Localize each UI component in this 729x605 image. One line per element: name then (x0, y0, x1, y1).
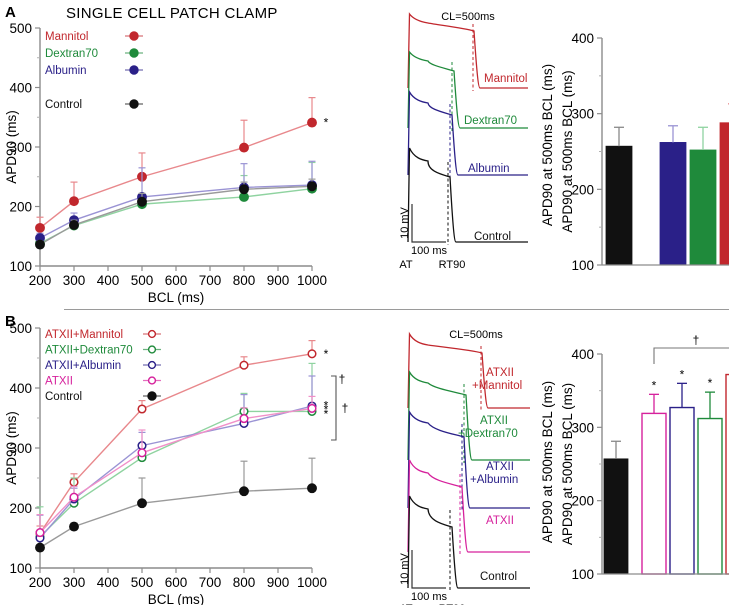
x-tick-label: 300 (63, 273, 86, 288)
y-tick-label: 500 (9, 321, 32, 336)
data-point (308, 350, 316, 358)
y-axis-label: APD90 at 500ms BCL (ms) (540, 64, 555, 226)
voltage-scale-label: 10 mV (399, 552, 411, 584)
significance-marker: † (342, 401, 349, 415)
legend-label: ATXII+Albumin (45, 360, 121, 372)
trace-label: +Mannitol (472, 380, 522, 392)
bar (660, 142, 686, 265)
significance-marker: † (693, 333, 700, 347)
data-point (36, 529, 44, 537)
y-axis-label: APD90 at 500ms BCL (ms) (560, 70, 575, 232)
panel-a-line-chart: 1002003004005002003004005006007008009001… (0, 18, 380, 303)
data-point (138, 449, 146, 457)
legend-marker (149, 362, 156, 369)
trace-label: Dextran70 (464, 115, 517, 127)
significance-marker: * (652, 378, 657, 392)
x-tick-label: 300 (63, 575, 86, 590)
bar (642, 413, 666, 574)
trace-label: +Dextran70 (458, 428, 518, 440)
trace-label: ATXII (486, 367, 514, 379)
trace-label: Control (480, 571, 517, 583)
legend-marker (149, 377, 156, 384)
data-point (308, 118, 317, 127)
bar (606, 146, 632, 265)
legend-label: Control (45, 99, 82, 111)
significance-marker: * (324, 116, 329, 130)
bar (720, 123, 729, 265)
y-axis-label: APD90 (ms) (4, 110, 19, 184)
significance-marker: * (680, 367, 685, 381)
data-point (138, 405, 146, 413)
data-point (138, 197, 147, 206)
x-tick-label: 400 (97, 575, 120, 590)
y-axis-label: APD90 at 500ms BCL (ms) (560, 383, 575, 545)
legend-label: Mannitol (45, 31, 88, 43)
significance-marker: * (324, 347, 329, 361)
data-point (70, 522, 79, 531)
trace-label: ATXII (480, 415, 508, 427)
y-tick-label: 400 (9, 81, 32, 96)
x-tick-label: 900 (267, 273, 290, 288)
x-tick-label: 1000 (297, 273, 327, 288)
significance-marker: † (339, 372, 346, 386)
legend-label: Albumin (45, 65, 87, 77)
legend-marker (149, 346, 156, 353)
significance-marker: * (708, 376, 713, 390)
data-point (36, 543, 45, 552)
x-tick-label: 500 (131, 273, 154, 288)
y-axis-label: APD90 (ms) (4, 411, 19, 485)
y-tick-label: 500 (9, 21, 32, 36)
x-tick-label: 800 (233, 575, 256, 590)
x-tick-label: 700 (199, 575, 222, 590)
legend-label: ATXII (45, 376, 73, 388)
figure-root: A SINGLE CELL PATCH CLAMP 10020030040050… (0, 0, 729, 605)
trace-label: Control (474, 231, 511, 243)
legend-label: Dextran70 (45, 48, 98, 60)
y-tick-label: 100 (571, 258, 594, 273)
x-tick-label: 200 (29, 575, 52, 590)
y-tick-label: 400 (571, 347, 594, 362)
x-tick-label: 600 (165, 575, 188, 590)
x-tick-label: 200 (29, 273, 52, 288)
data-point (36, 224, 45, 233)
data-point (36, 240, 45, 249)
legend-label: ATXII+Dextran70 (45, 345, 133, 357)
x-axis-label: BCL (ms) (148, 290, 205, 305)
trace-label: Mannitol (484, 73, 527, 85)
x-tick-label: 800 (233, 273, 256, 288)
panel-b-bar-chart: 100200300400APD90 at 500ms BCL (ms)****† (556, 312, 729, 602)
y-tick-label: 200 (9, 200, 32, 215)
data-point (308, 484, 317, 493)
bar (670, 408, 694, 574)
x-tick-label: 500 (131, 575, 154, 590)
legend-marker (130, 66, 138, 74)
x-tick-label: 1000 (297, 575, 327, 590)
data-point (240, 185, 249, 194)
data-point (70, 221, 79, 230)
cycle-length-label: CL=500ms (441, 11, 495, 23)
bar (604, 459, 628, 574)
legend-marker (130, 100, 138, 108)
trace-label: +Albumin (470, 474, 518, 486)
time-scale-label: 100 ms (411, 591, 448, 603)
legend-marker (130, 32, 138, 40)
bar (690, 150, 716, 265)
data-point (308, 405, 316, 413)
trace-label: Albumin (468, 163, 510, 175)
y-tick-label: 400 (9, 381, 32, 396)
data-point (240, 415, 248, 423)
significance-marker: * (324, 407, 329, 421)
trace-label: ATXII (486, 515, 514, 527)
panel-b-trace-plot: CL=500msATXII+MannitolATXII+Dextran70ATX… (380, 312, 560, 605)
x-tick-label: 700 (199, 273, 222, 288)
y-tick-label: 100 (9, 561, 32, 576)
data-point (70, 197, 79, 206)
legend-marker (130, 83, 138, 91)
panel-divider (64, 309, 729, 310)
data-point (138, 499, 147, 508)
x-tick-label: 400 (97, 273, 120, 288)
data-point (240, 361, 248, 369)
voltage-scale-label: 10 mV (399, 206, 411, 238)
x-axis-label: BCL (ms) (148, 592, 205, 605)
data-point (308, 182, 317, 191)
legend-marker (148, 392, 156, 400)
bar (698, 419, 722, 574)
y-tick-label: 200 (9, 501, 32, 516)
panel-a-bar-chart: 100200300400APD90 at 500ms BCL (ms)* (556, 10, 729, 290)
cycle-length-label: CL=500ms (449, 329, 503, 341)
y-tick-label: 100 (571, 567, 594, 582)
data-point (240, 487, 249, 496)
data-point (240, 143, 249, 152)
y-axis-label: APD90 at 500ms BCL (ms) (540, 381, 555, 543)
legend-label: Control (45, 391, 82, 403)
time-scale-label: 100 ms (411, 245, 448, 257)
panel-b-line-chart: 1002003004005002003004005006007008009001… (0, 318, 380, 605)
legend-label: ATXII+Mannitol (45, 329, 123, 341)
panel-a-trace-plot: CL=500msMannitolDextran70AlbuminControl1… (380, 0, 560, 290)
x-tick-label: 900 (267, 575, 290, 590)
trace-label: ATXII (486, 461, 514, 473)
y-tick-label: 400 (571, 31, 594, 46)
rt90-label: RT90 (439, 259, 466, 271)
legend-marker (149, 331, 156, 338)
legend-marker (130, 49, 138, 57)
data-point (70, 493, 78, 501)
y-tick-label: 100 (9, 259, 32, 274)
at-label: AT (399, 259, 413, 271)
x-tick-label: 600 (165, 273, 188, 288)
